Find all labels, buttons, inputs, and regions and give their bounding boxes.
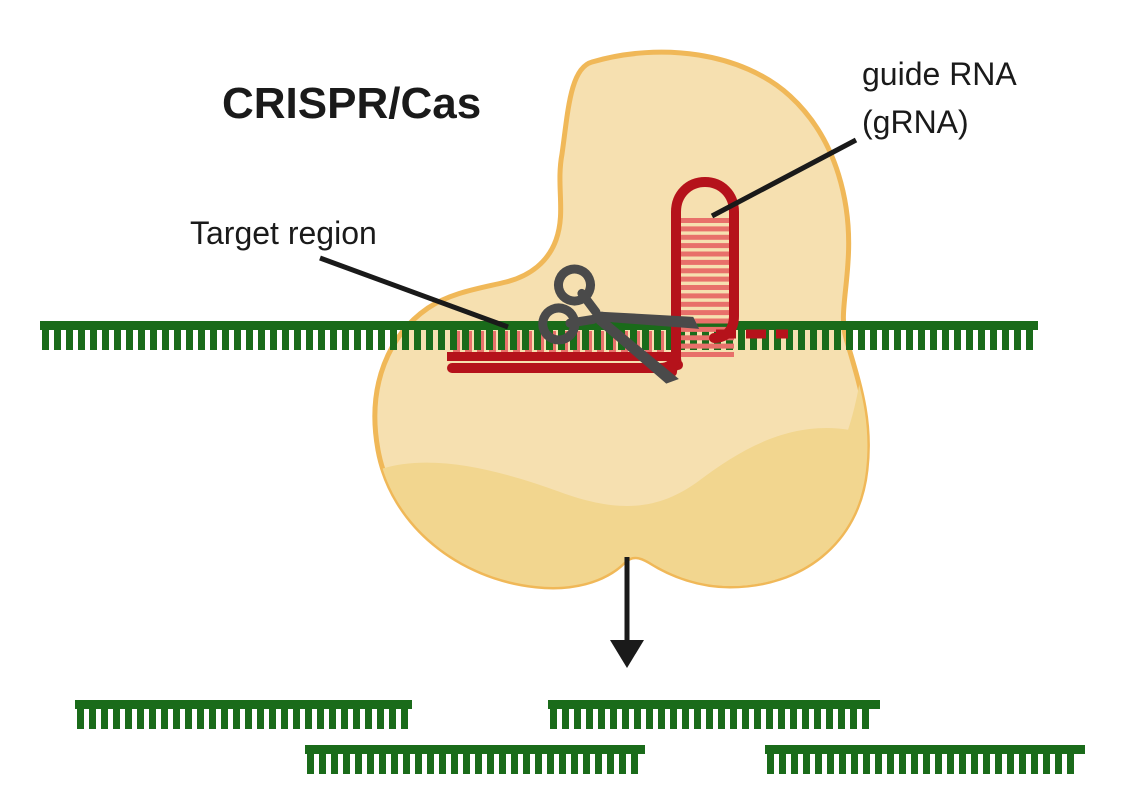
dna-tooth xyxy=(766,708,773,729)
dna-tooth xyxy=(802,708,809,729)
grna-rung xyxy=(676,285,734,290)
dna-tooth xyxy=(222,329,229,350)
dna-tooth xyxy=(185,708,192,729)
dna-tooth xyxy=(101,708,108,729)
dna-tooth xyxy=(863,753,870,774)
dna-tooth xyxy=(899,753,906,774)
dna-tooth xyxy=(619,753,626,774)
dna-tooth xyxy=(498,329,505,350)
dna-tooth xyxy=(54,329,61,350)
dna-tooth xyxy=(499,753,506,774)
label-guide-rna-line1: guide RNA xyxy=(862,56,1017,92)
dna-tooth xyxy=(1043,753,1050,774)
dna-tooth xyxy=(911,753,918,774)
grna-rung xyxy=(676,352,734,357)
dna-tooth xyxy=(634,708,641,729)
dna-tooth xyxy=(947,753,954,774)
dna-tooth xyxy=(730,708,737,729)
fragment-backbone xyxy=(765,745,1085,754)
dna-tooth xyxy=(77,708,84,729)
dna-tooth xyxy=(754,708,761,729)
dna-tooth xyxy=(851,753,858,774)
dna-tooth xyxy=(870,329,877,350)
dna-tooth xyxy=(234,329,241,350)
dna-tooth xyxy=(378,329,385,350)
dna-tooth xyxy=(875,753,882,774)
dna-tooth xyxy=(810,329,817,350)
dna-tooth xyxy=(718,708,725,729)
fragment-top-left xyxy=(75,700,412,729)
dna-tooth xyxy=(209,708,216,729)
dna-tooth xyxy=(329,708,336,729)
dna-tooth xyxy=(258,329,265,350)
dna-tooth xyxy=(834,329,841,350)
dna-tooth xyxy=(791,753,798,774)
dna-tooth xyxy=(42,329,49,350)
dna-tooth xyxy=(670,708,677,729)
dna-tooth xyxy=(779,753,786,774)
dna-tooth xyxy=(174,329,181,350)
dna-tooth xyxy=(186,329,193,350)
grna-rung xyxy=(676,310,734,315)
dna-tooth xyxy=(995,753,1002,774)
dna-tooth xyxy=(114,329,121,350)
dna-tooth xyxy=(607,753,614,774)
fragment-backbone xyxy=(75,700,412,709)
dna-tooth xyxy=(161,708,168,729)
dna-tooth xyxy=(307,753,314,774)
dna-tooth xyxy=(162,329,169,350)
dna-tooth xyxy=(550,708,557,729)
dna-tooth xyxy=(377,708,384,729)
dna-tooth xyxy=(402,329,409,350)
dna-tooth xyxy=(918,329,925,350)
dna-tooth xyxy=(281,708,288,729)
dna-tooth xyxy=(451,753,458,774)
dna-tooth xyxy=(319,753,326,774)
grna-rung xyxy=(676,260,734,265)
dna-tooth xyxy=(983,753,990,774)
dna-tooth xyxy=(511,753,518,774)
dna-tooth xyxy=(450,329,457,350)
fragment-backbone xyxy=(548,700,880,709)
dna-tooth xyxy=(742,708,749,729)
dna-tooth xyxy=(113,708,120,729)
dna-tooth xyxy=(839,753,846,774)
fragment-bottom-right xyxy=(765,745,1085,774)
dna-tooth xyxy=(654,329,661,350)
grna-rung xyxy=(676,344,734,349)
dna-tooth xyxy=(246,329,253,350)
dna-tooth xyxy=(887,753,894,774)
dna-tooth xyxy=(486,329,493,350)
dna-tooth xyxy=(257,708,264,729)
dna-tooth xyxy=(598,708,605,729)
dna-tooth xyxy=(270,329,277,350)
dna-tooth xyxy=(778,708,785,729)
dna-tooth xyxy=(210,329,217,350)
dna-tooth xyxy=(1067,753,1074,774)
dna-tooth xyxy=(487,753,494,774)
dna-tooth xyxy=(197,708,204,729)
dna-tooth xyxy=(390,329,397,350)
dna-tooth xyxy=(245,708,252,729)
dna-tooth xyxy=(318,329,325,350)
dna-tooth xyxy=(125,708,132,729)
dna-tooth xyxy=(343,753,350,774)
dna-tooth xyxy=(522,329,529,350)
dna-tooth xyxy=(882,329,889,350)
dna-tooth xyxy=(330,329,337,350)
dna-tooth xyxy=(331,753,338,774)
dna-tooth xyxy=(642,329,649,350)
dna-tooth xyxy=(930,329,937,350)
dna-tooth xyxy=(850,708,857,729)
dna-tooth xyxy=(682,708,689,729)
arrow-head-icon xyxy=(610,640,644,668)
dna-tooth xyxy=(631,753,638,774)
dna-tooth xyxy=(1007,753,1014,774)
dna-tooth xyxy=(535,753,542,774)
dna-tooth xyxy=(379,753,386,774)
dna-tooth xyxy=(694,708,701,729)
dna-tooth xyxy=(149,708,156,729)
dna-tooth xyxy=(658,708,665,729)
crispr-diagram-canvas: CRISPR/Cas Target region guide RNA (gRNA… xyxy=(0,0,1143,800)
dna-tooth xyxy=(306,329,313,350)
dna-tooth xyxy=(126,329,133,350)
dna-tooth xyxy=(510,329,517,350)
dna-tooth xyxy=(534,329,541,350)
dna-tooth xyxy=(269,708,276,729)
grna-rung xyxy=(676,218,734,223)
dna-tooth xyxy=(706,708,713,729)
dna-tooth xyxy=(827,753,834,774)
dna-tooth xyxy=(1019,753,1026,774)
dna-tooth xyxy=(523,753,530,774)
page-title: CRISPR/Cas xyxy=(222,79,481,128)
dna-tooth xyxy=(198,329,205,350)
dna-tooth xyxy=(846,329,853,350)
dna-tooth xyxy=(293,708,300,729)
dna-tooth xyxy=(438,329,445,350)
grna-rung xyxy=(676,277,734,282)
dna-tooth xyxy=(150,329,157,350)
dna-tooth xyxy=(401,708,408,729)
dna-tooth xyxy=(355,753,362,774)
dna-tooth xyxy=(353,708,360,729)
dna-tooth xyxy=(173,708,180,729)
dna-tooth xyxy=(978,329,985,350)
dna-tooth xyxy=(790,708,797,729)
grna-rung xyxy=(676,268,734,273)
dna-tooth xyxy=(366,329,373,350)
dna-tooth xyxy=(90,329,97,350)
fragment-backbone xyxy=(305,745,645,754)
dna-tooth xyxy=(586,708,593,729)
dna-tooth xyxy=(365,708,372,729)
label-guide-rna-line2: (gRNA) xyxy=(862,104,969,140)
dna-tooth xyxy=(354,329,361,350)
dna-tooth xyxy=(574,708,581,729)
dna-tooth xyxy=(582,329,589,350)
dna-tooth xyxy=(990,329,997,350)
dna-tooth xyxy=(463,753,470,774)
dna-tooth xyxy=(102,329,109,350)
grna-rung xyxy=(676,293,734,298)
dna-tooth xyxy=(367,753,374,774)
dna-tooth xyxy=(221,708,228,729)
dna-tooth xyxy=(583,753,590,774)
dna-tooth xyxy=(562,708,569,729)
dna-tooth xyxy=(646,708,653,729)
dna-tooth xyxy=(389,708,396,729)
grna-rung xyxy=(676,252,734,257)
dna-tooth xyxy=(838,708,845,729)
dna-tooth xyxy=(815,753,822,774)
dna-tooth xyxy=(1014,329,1021,350)
dna-tooth xyxy=(233,708,240,729)
dna-tooth xyxy=(317,708,324,729)
dna-tooth xyxy=(78,329,85,350)
dna-tooth xyxy=(426,329,433,350)
dna-tooth xyxy=(814,708,821,729)
dna-tooth xyxy=(137,708,144,729)
dna-tooth xyxy=(475,753,482,774)
dna-tooth xyxy=(610,708,617,729)
dna-tooth xyxy=(594,329,601,350)
fragment-bottom-left xyxy=(305,745,645,774)
dna-tooth xyxy=(595,753,602,774)
dna-tooth xyxy=(403,753,410,774)
dna-tooth xyxy=(858,329,865,350)
grna-rung xyxy=(676,243,734,248)
dna-tooth xyxy=(622,708,629,729)
dna-tooth xyxy=(1055,753,1062,774)
dna-tooth xyxy=(935,753,942,774)
grna-rung xyxy=(676,226,734,231)
grna-rung xyxy=(676,235,734,240)
dna-tooth xyxy=(942,329,949,350)
fragment-top-right xyxy=(548,700,880,729)
dna-tooth xyxy=(1002,329,1009,350)
dna-tooth xyxy=(341,708,348,729)
dna-tooth xyxy=(971,753,978,774)
dna-tooth xyxy=(798,329,805,350)
dna-tooth xyxy=(1031,753,1038,774)
dna-tooth xyxy=(439,753,446,774)
dna-tooth xyxy=(342,329,349,350)
dna-tooth xyxy=(803,753,810,774)
dna-tooth xyxy=(959,753,966,774)
crispr-cas-illustration: CRISPR/Cas Target region guide RNA (gRNA… xyxy=(0,0,1143,800)
dna-tooth xyxy=(294,329,301,350)
dna-tooth xyxy=(305,708,312,729)
dna-tooth xyxy=(462,329,469,350)
dna-tooth xyxy=(414,329,421,350)
process-arrow xyxy=(610,557,644,668)
grna-rung xyxy=(676,302,734,307)
dna-tooth xyxy=(282,329,289,350)
dna-tooth xyxy=(966,329,973,350)
dna-tooth xyxy=(767,753,774,774)
dna-tooth xyxy=(826,708,833,729)
dna-tooth xyxy=(738,329,745,350)
dna-tooth xyxy=(138,329,145,350)
dna-tooth xyxy=(89,708,96,729)
dna-tooth xyxy=(66,329,73,350)
dna-tooth xyxy=(427,753,434,774)
dna-fragments xyxy=(75,700,1085,774)
dna-tooth xyxy=(571,753,578,774)
dna-tooth xyxy=(894,329,901,350)
dna-tooth xyxy=(559,753,566,774)
dna-tooth xyxy=(906,329,913,350)
dna-tooth xyxy=(822,329,829,350)
dna-tooth xyxy=(1026,329,1033,350)
label-target-region: Target region xyxy=(190,215,377,251)
dna-tooth xyxy=(391,753,398,774)
dna-tooth xyxy=(954,329,961,350)
dna-tooth xyxy=(547,753,554,774)
dna-tooth xyxy=(474,329,481,350)
dna-tooth xyxy=(862,708,869,729)
dna-tooth xyxy=(415,753,422,774)
dna-tooth xyxy=(923,753,930,774)
